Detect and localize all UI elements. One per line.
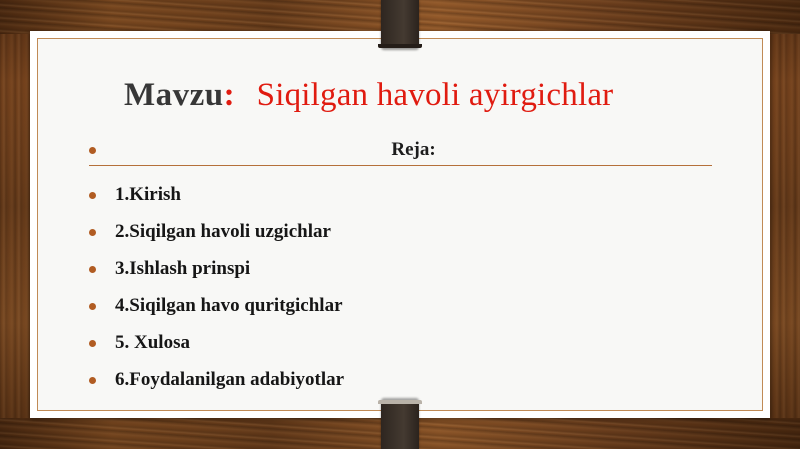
agenda-list: 1.Kirish 2.Siqilgan havoli uzgichlar 3.I… [87,176,737,398]
list-item-label: 5. Xulosa [115,332,190,353]
binder-clip-bottom-icon [381,400,419,449]
binder-clip-top-icon [381,0,419,48]
title-colon: : [224,77,235,113]
presentation-slide: Mavzu:Siqilgan havoli ayirgichlar Reja: … [0,0,800,449]
bullet-dot-icon [89,266,96,273]
list-item: 2.Siqilgan havoli uzgichlar [87,213,737,250]
agenda-heading: Reja: [87,139,712,161]
list-item: 1.Kirish [87,176,737,213]
agenda-heading-row: Reja: [87,139,712,169]
bullet-dot-icon [89,229,96,236]
list-item: 4.Siqilgan havo quritgichlar [87,287,737,324]
bullet-dot-icon [89,192,96,199]
list-item-label: 2.Siqilgan havoli uzgichlar [115,221,331,242]
list-item: 6.Foydalanilgan adabiyotlar [87,361,737,398]
agenda-heading-underline [89,165,712,166]
bullet-dot-icon [89,303,96,310]
slide-content: Mavzu:Siqilgan havoli ayirgichlar Reja: … [38,39,762,410]
bullet-dot-icon [89,377,96,384]
title-label: Mavzu [124,77,224,113]
title-subject: Siqilgan havoli ayirgichlar [257,77,614,113]
page-title: Mavzu:Siqilgan havoli ayirgichlar [124,74,744,116]
list-item-label: 3.Ishlash prinspi [115,258,250,279]
list-item: 3.Ishlash prinspi [87,250,737,287]
bullet-dot-icon [89,340,96,347]
list-item-label: 6.Foydalanilgan adabiyotlar [115,369,344,390]
list-item-label: 4.Siqilgan havo quritgichlar [115,295,343,316]
list-item-label: 1.Kirish [115,184,181,205]
list-item: 5. Xulosa [87,324,737,361]
